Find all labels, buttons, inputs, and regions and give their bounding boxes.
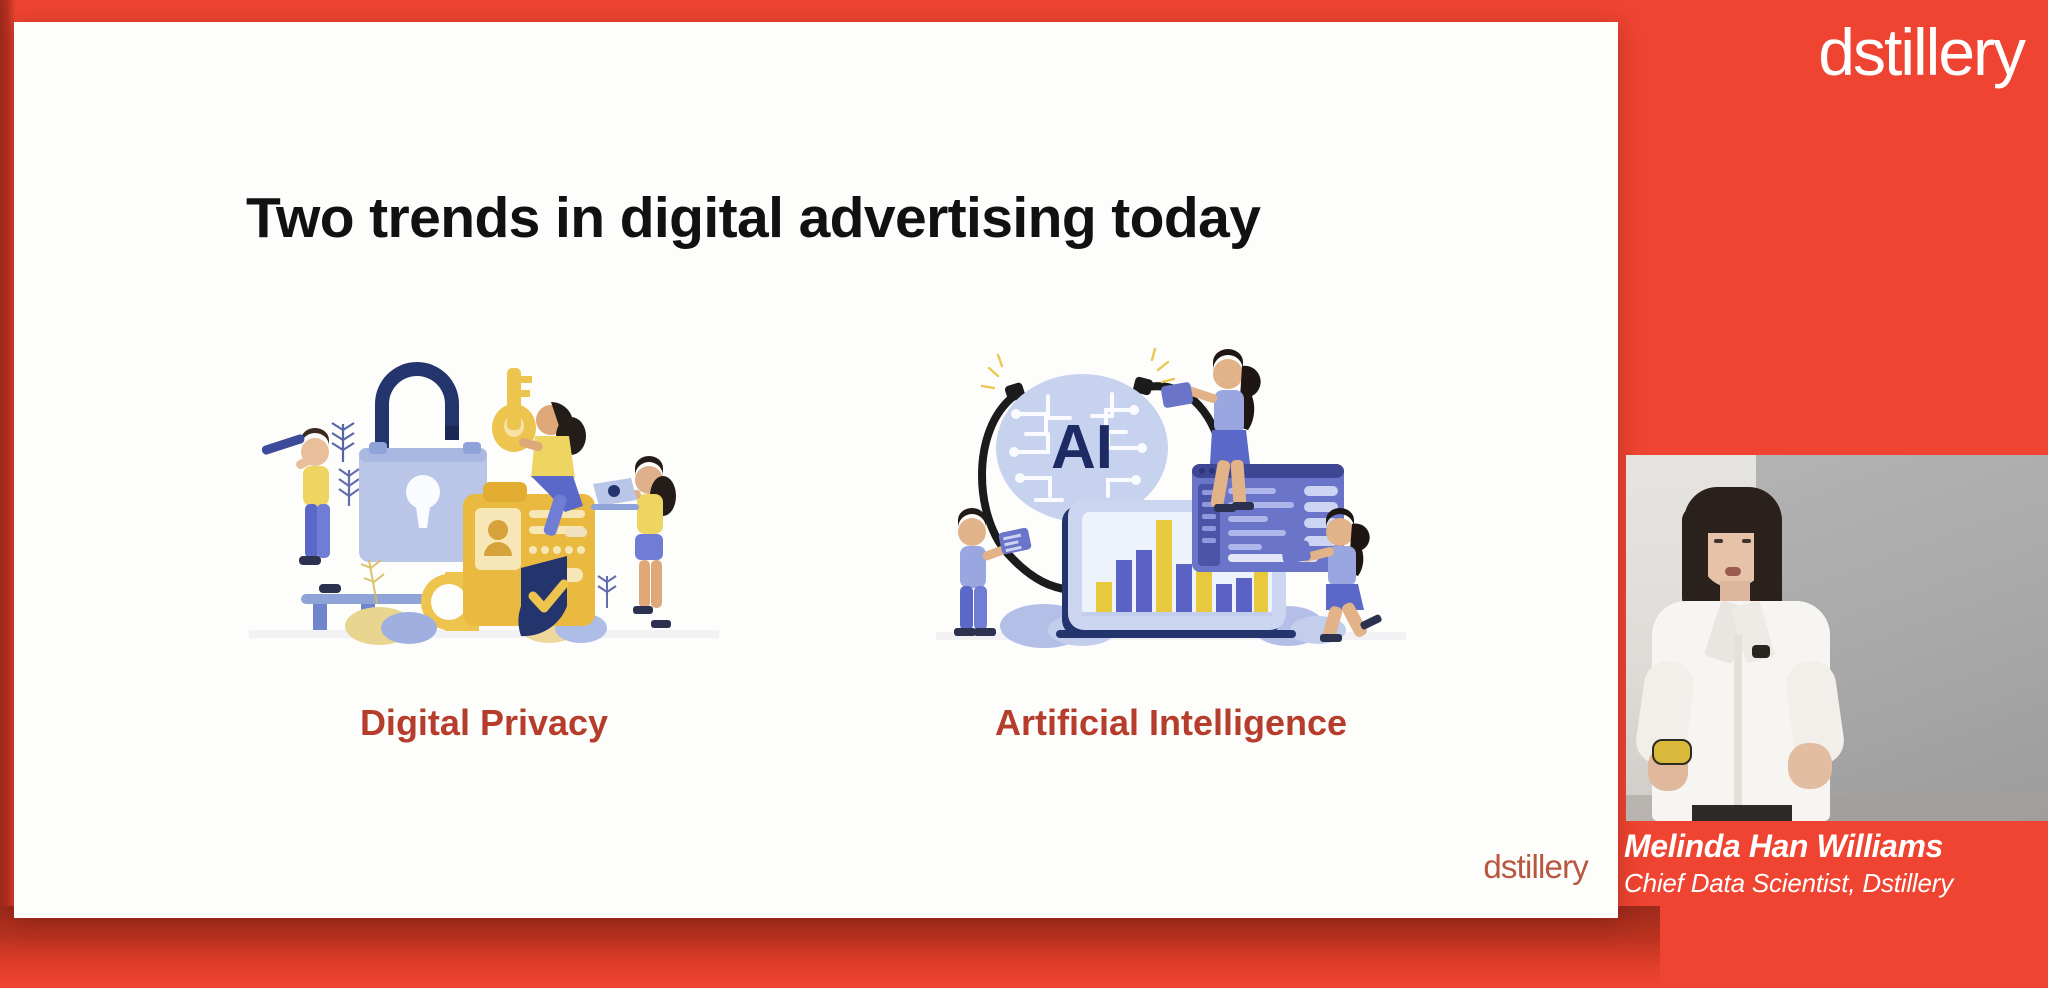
slide-canvas: Two trends in digital advertising today xyxy=(14,22,1618,918)
ai-label-text: AI xyxy=(1051,413,1113,482)
speaker-mouth xyxy=(1725,567,1741,576)
speaker-waistband xyxy=(1692,805,1792,821)
panel-artificial-intelligence: AI xyxy=(936,344,1406,764)
speaker-eye-left xyxy=(1714,539,1723,543)
speaker-info: Melinda Han Williams Chief Data Scientis… xyxy=(1624,828,1953,899)
brand-logo: dstillery xyxy=(1818,16,2024,89)
speaker-hair-right xyxy=(1754,507,1782,615)
speaker-name: Melinda Han Williams xyxy=(1624,828,1953,865)
speaker-hair-left xyxy=(1682,507,1708,611)
lavalier-mic-icon xyxy=(1752,645,1770,658)
panel-digital-privacy: Digital Privacy xyxy=(249,344,719,764)
background-bottom-shading xyxy=(0,906,1660,988)
page-title: Two trends in digital advertising today xyxy=(246,185,1260,251)
privacy-illustration xyxy=(249,344,719,654)
speaker-hand-right xyxy=(1788,743,1832,789)
speaker-video-feed[interactable] xyxy=(1626,455,2048,821)
person-with-laptop xyxy=(591,456,676,628)
person-with-telescope xyxy=(261,428,341,593)
presenter-clicker-icon xyxy=(1652,739,1692,765)
panel-label-artificial-intelligence: Artificial Intelligence xyxy=(936,702,1406,744)
speaker-shirt-placket xyxy=(1734,635,1742,815)
speaker-role: Chief Data Scientist, Dstillery xyxy=(1624,868,1953,899)
panel-label-digital-privacy: Digital Privacy xyxy=(249,702,719,744)
speaker-eye-right xyxy=(1742,539,1751,543)
slide-footer-logo: dstillery xyxy=(1483,848,1588,886)
ai-illustration: AI xyxy=(936,344,1406,654)
presentation-stage: Two trends in digital advertising today xyxy=(0,0,2048,988)
